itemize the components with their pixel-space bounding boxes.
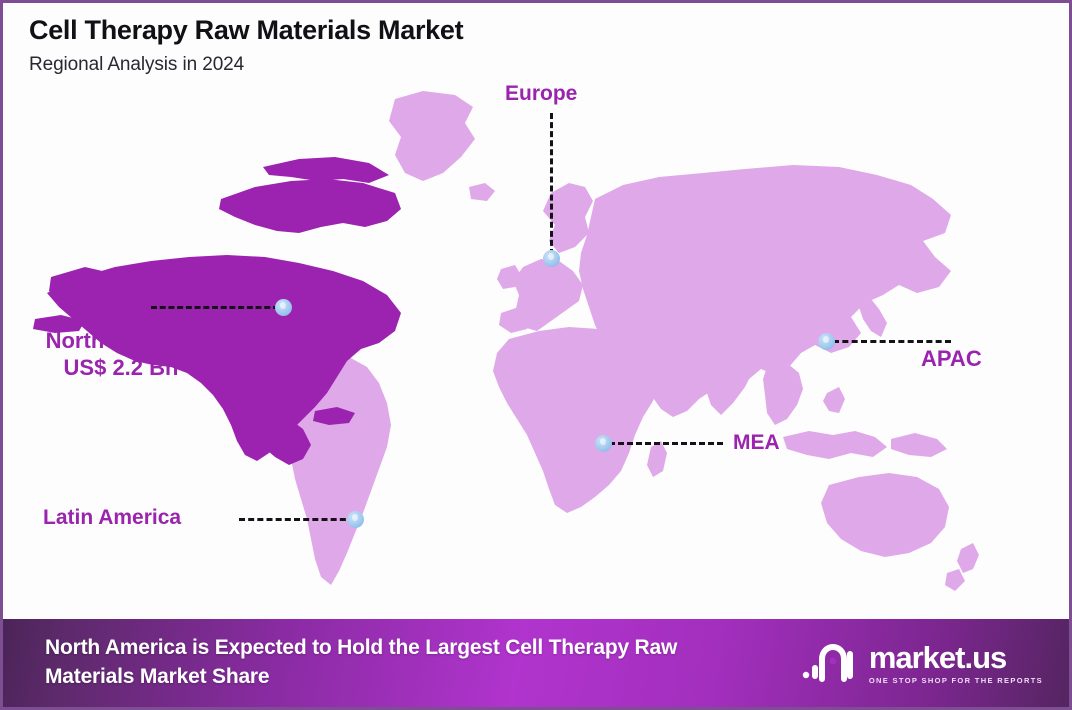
- map-marker-latin-america[interactable]: [347, 511, 364, 528]
- region-canada-arctic: [219, 179, 401, 233]
- region-label-latin-america: Latin America: [43, 505, 181, 531]
- leader-line-apac: [833, 340, 951, 343]
- region-name-latin-america: Latin America: [43, 506, 181, 529]
- region-label-north-america: North America US$ 2.2 Bn: [21, 328, 221, 382]
- header: Cell Therapy Raw Materials Market Region…: [29, 15, 463, 76]
- region-new-guinea: [891, 433, 947, 457]
- map-marker-europe[interactable]: [543, 250, 560, 267]
- map-marker-mea[interactable]: [595, 435, 612, 452]
- region-japan: [859, 299, 887, 337]
- region-southeast-asia: [763, 363, 803, 425]
- map-marker-north-america[interactable]: [275, 299, 292, 316]
- region-label-apac: APAC: [921, 346, 982, 373]
- page-subtitle: Regional Analysis in 2024: [29, 54, 463, 76]
- region-australia: [821, 473, 949, 557]
- page-title: Cell Therapy Raw Materials Market: [29, 15, 463, 46]
- infographic-root: Cell Therapy Raw Materials Market Region…: [0, 0, 1072, 710]
- region-canada-islands: [263, 157, 389, 183]
- region-new-zealand-south: [945, 569, 965, 591]
- region-name-north-america: North America: [46, 328, 197, 353]
- region-greenland: [389, 91, 475, 181]
- leader-line-europe: [550, 113, 553, 255]
- region-name-europe: Europe: [505, 82, 577, 105]
- region-new-zealand: [957, 543, 979, 573]
- region-label-mea: MEA: [733, 430, 780, 456]
- region-madagascar: [647, 441, 667, 477]
- region-philippines: [823, 387, 845, 413]
- leader-line-latin-america: [239, 518, 355, 521]
- region-name-mea: MEA: [733, 431, 780, 454]
- logo-tagline: ONE STOP SHOP FOR THE REPORTS: [869, 676, 1043, 685]
- region-iceland: [469, 183, 495, 201]
- region-value-north-america: US$ 2.2 Bn: [21, 355, 221, 382]
- leader-line-north-america: [151, 306, 279, 309]
- market-us-logo-icon: [801, 641, 859, 685]
- region-name-apac: APAC: [921, 346, 982, 371]
- footer-caption: North America is Expected to Hold the La…: [45, 634, 745, 692]
- leader-line-mea: [609, 442, 723, 445]
- map-marker-apac[interactable]: [818, 333, 835, 350]
- footer-banner: North America is Expected to Hold the La…: [3, 619, 1072, 707]
- region-indonesia: [783, 431, 887, 459]
- region-india: [701, 347, 753, 415]
- logo-text-block: market.us ONE STOP SHOP FOR THE REPORTS: [869, 642, 1043, 685]
- brand-logo[interactable]: market.us ONE STOP SHOP FOR THE REPORTS: [801, 641, 1049, 685]
- region-label-europe: Europe: [505, 81, 577, 107]
- logo-wordmark: market.us: [869, 642, 1006, 673]
- map-highlighted-region: [33, 157, 401, 465]
